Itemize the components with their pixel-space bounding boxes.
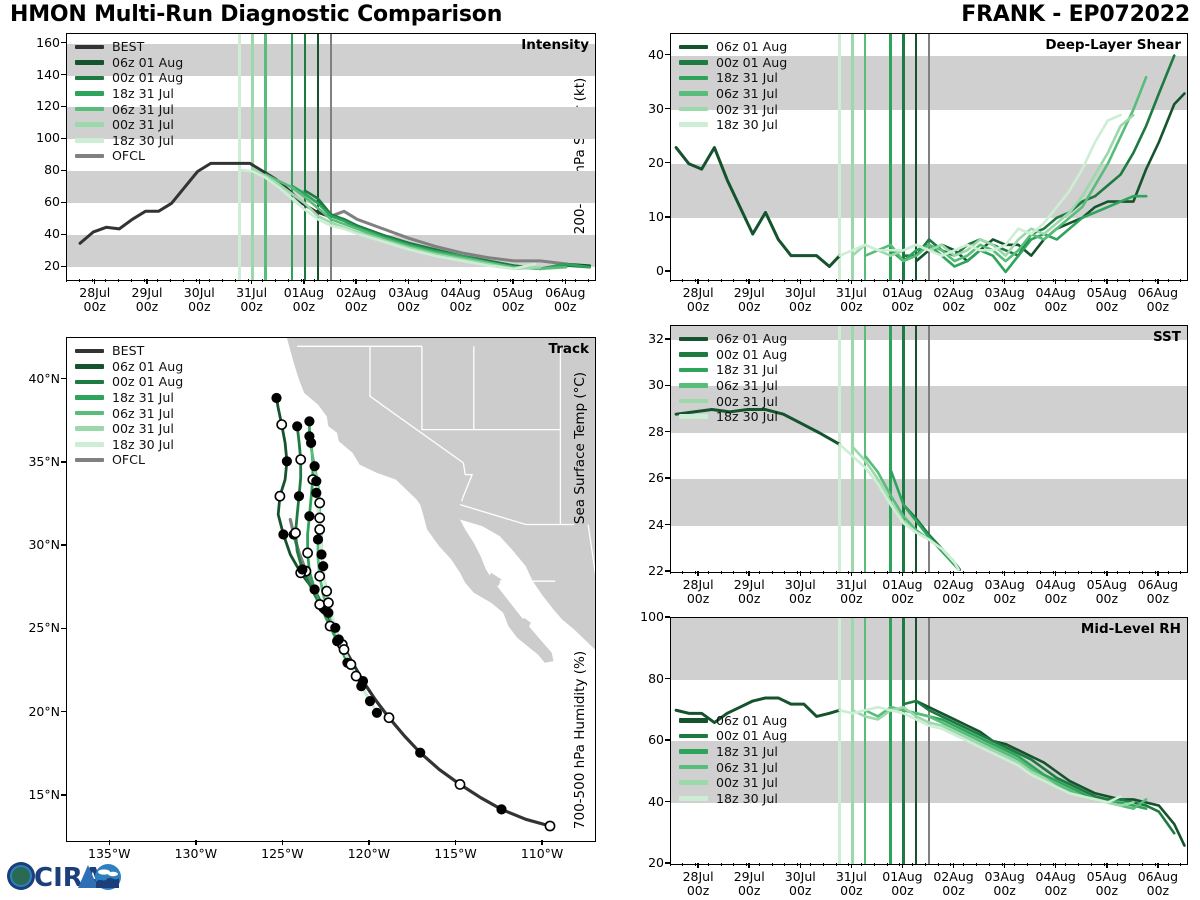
y-tick-mark bbox=[61, 74, 66, 75]
x-tick-label: 06Aug00z bbox=[1126, 286, 1190, 314]
y-tick-label: 28 bbox=[618, 424, 664, 439]
legend-item: 18z 30 Jul bbox=[75, 437, 183, 453]
track-marker-00z bbox=[497, 805, 506, 814]
legend-label: 00z 31 Jul bbox=[716, 775, 778, 790]
legend-label: OFCL bbox=[112, 148, 145, 163]
panel-title-rh: Mid-Level RH bbox=[1081, 621, 1181, 637]
track-marker-12z bbox=[291, 528, 300, 537]
y-tick-mark bbox=[61, 461, 66, 462]
track-marker-00z bbox=[313, 535, 322, 544]
y-tick-label: 30 bbox=[618, 377, 664, 392]
legend-item: 18z 31 Jul bbox=[679, 70, 787, 86]
panel-title-shear: Deep-Layer Shear bbox=[1045, 37, 1181, 53]
track-marker-12z bbox=[322, 587, 331, 596]
legend-swatch bbox=[679, 45, 708, 50]
y-tick-label: 40 bbox=[618, 47, 664, 62]
y-tick-label: 80 bbox=[14, 162, 60, 177]
y-tick-mark bbox=[665, 162, 670, 163]
legend-label: 18z 30 Jul bbox=[112, 133, 174, 148]
legend-swatch bbox=[75, 364, 104, 369]
legend-swatch bbox=[75, 138, 104, 143]
legend-swatch bbox=[679, 414, 708, 419]
y-tick-mark bbox=[61, 628, 66, 629]
legend-swatch bbox=[679, 749, 708, 754]
track-marker-12z bbox=[455, 780, 464, 789]
legend-item: 00z 01 Aug bbox=[679, 728, 787, 744]
cira-logo: CIRA bbox=[4, 855, 122, 897]
y-tick-mark bbox=[61, 711, 66, 712]
legend-swatch bbox=[679, 91, 708, 96]
y-tick-label: 26 bbox=[618, 470, 664, 485]
y-tick-mark bbox=[665, 524, 670, 525]
legend-label: 00z 01 Aug bbox=[112, 70, 183, 85]
data-series-line bbox=[891, 196, 1146, 272]
panel-title-intensity: Intensity bbox=[521, 37, 589, 53]
legend-label: 06z 31 Jul bbox=[716, 378, 778, 393]
legend-shear: 06z 01 Aug00z 01 Aug18z 31 Jul06z 31 Jul… bbox=[679, 39, 787, 133]
legend-item: 00z 31 Jul bbox=[679, 393, 787, 409]
data-series-line bbox=[253, 168, 541, 269]
legend-swatch bbox=[679, 796, 708, 801]
legend-item: 00z 01 Aug bbox=[679, 347, 787, 363]
legend-label: 06z 01 Aug bbox=[716, 331, 787, 346]
track-line bbox=[309, 436, 361, 686]
track-marker-00z bbox=[365, 697, 374, 706]
legend-track: BEST06z 01 Aug00z 01 Aug18z 31 Jul06z 31… bbox=[75, 343, 183, 468]
legend-swatch bbox=[75, 426, 104, 431]
legend-swatch bbox=[679, 337, 708, 342]
legend-item: 00z 31 Jul bbox=[679, 101, 787, 117]
track-marker-12z bbox=[315, 600, 324, 609]
x-tick-mark bbox=[109, 840, 110, 845]
legend-item: BEST bbox=[75, 39, 183, 55]
legend-item: 06z 31 Jul bbox=[679, 378, 787, 394]
y-tick-label: 22 bbox=[618, 563, 664, 578]
track-marker-12z bbox=[315, 525, 324, 534]
legend-swatch bbox=[679, 718, 708, 723]
panel-shear[interactable]: Deep-Layer Shear 06z 01 Aug00z 01 Aug18z… bbox=[670, 33, 1188, 281]
legend-label: 18z 30 Jul bbox=[716, 409, 778, 424]
legend-label: 06z 31 Jul bbox=[716, 760, 778, 775]
track-marker-00z bbox=[357, 682, 366, 691]
legend-label: 00z 01 Aug bbox=[716, 728, 787, 743]
data-series-line bbox=[852, 115, 1133, 256]
legend-item: 06z 01 Aug bbox=[679, 39, 787, 55]
track-marker-00z bbox=[312, 488, 321, 497]
legend-intensity: BEST06z 01 Aug00z 01 Aug18z 31 Jul06z 31… bbox=[75, 39, 183, 164]
y-tick-mark bbox=[61, 378, 66, 379]
y-tick-mark bbox=[61, 794, 66, 795]
track-marker-00z bbox=[416, 748, 425, 757]
x-tick-label: 115°W bbox=[420, 847, 492, 861]
panel-title-sst: SST bbox=[1153, 329, 1181, 345]
legend-label: 06z 01 Aug bbox=[716, 39, 787, 54]
data-series-line bbox=[903, 56, 1174, 256]
y-tick-mark bbox=[61, 138, 66, 139]
track-marker-00z bbox=[310, 462, 319, 471]
track-marker-00z bbox=[319, 562, 328, 571]
legend-item: BEST bbox=[75, 343, 183, 359]
y-axis-label: 700-500 hPa Humidity (%) bbox=[572, 651, 588, 829]
legend-swatch bbox=[75, 45, 104, 50]
x-tick-label: 06Aug00z bbox=[1126, 870, 1190, 898]
page-title-left: HMON Multi-Run Diagnostic Comparison bbox=[10, 2, 502, 27]
legend-item: 18z 30 Jul bbox=[75, 133, 183, 149]
y-tick-label: 25°N bbox=[8, 620, 60, 635]
legend-label: BEST bbox=[112, 39, 144, 54]
track-marker-12z bbox=[352, 672, 361, 681]
y-tick-label: 80 bbox=[618, 671, 664, 686]
data-series-line bbox=[865, 77, 1146, 261]
legend-swatch bbox=[75, 411, 104, 416]
legend-swatch bbox=[679, 780, 708, 785]
legend-label: OFCL bbox=[112, 452, 145, 467]
legend-swatch bbox=[679, 122, 708, 127]
y-tick-mark bbox=[61, 266, 66, 267]
legend-swatch bbox=[679, 399, 708, 404]
legend-label: 18z 30 Jul bbox=[716, 117, 778, 132]
y-tick-label: 100 bbox=[618, 609, 664, 624]
track-marker-12z bbox=[324, 598, 333, 607]
y-tick-label: 60 bbox=[14, 194, 60, 209]
data-series-line bbox=[676, 148, 839, 267]
track-marker-12z bbox=[303, 548, 312, 557]
y-tick-mark bbox=[61, 170, 66, 171]
legend-item: 18z 31 Jul bbox=[75, 390, 183, 406]
legend-label: 00z 01 Aug bbox=[716, 55, 787, 70]
track-line bbox=[316, 481, 377, 713]
track-marker-12z bbox=[339, 645, 348, 654]
legend-item: 00z 31 Jul bbox=[75, 421, 183, 437]
x-tick-label: 130°W bbox=[160, 847, 232, 861]
legend-swatch bbox=[679, 76, 708, 81]
legend-item: 00z 01 Aug bbox=[75, 374, 183, 390]
legend-label: 00z 31 Jul bbox=[716, 394, 778, 409]
data-series-line bbox=[80, 163, 328, 243]
legend-swatch bbox=[679, 352, 708, 357]
legend-item: 06z 01 Aug bbox=[75, 55, 183, 71]
y-tick-label: 40°N bbox=[8, 371, 60, 386]
x-tick-label: 110°W bbox=[506, 847, 578, 861]
x-tick-mark bbox=[541, 840, 542, 845]
legend-swatch bbox=[75, 458, 104, 463]
x-tick-mark bbox=[282, 840, 283, 845]
legend-item: 00z 31 Jul bbox=[75, 117, 183, 133]
x-tick-mark bbox=[195, 840, 196, 845]
y-tick-mark bbox=[61, 544, 66, 545]
track-line bbox=[294, 535, 550, 827]
legend-label: 06z 31 Jul bbox=[716, 86, 778, 101]
legend-swatch bbox=[75, 107, 104, 112]
legend-item: 06z 31 Jul bbox=[75, 101, 183, 117]
y-tick-label: 120 bbox=[14, 98, 60, 113]
track-marker-00z bbox=[317, 550, 326, 559]
legend-swatch bbox=[679, 383, 708, 388]
legend-swatch bbox=[75, 76, 104, 81]
track-marker-00z bbox=[282, 457, 291, 466]
legend-item: 06z 31 Jul bbox=[679, 86, 787, 102]
track-marker-12z bbox=[315, 572, 324, 581]
y-tick-label: 100 bbox=[14, 130, 60, 145]
legend-swatch bbox=[75, 395, 104, 400]
panel-rh[interactable]: Mid-Level RH 06z 01 Aug00z 01 Aug18z 31 … bbox=[670, 617, 1188, 865]
legend-item: 06z 31 Jul bbox=[679, 759, 787, 775]
track-marker-12z bbox=[315, 498, 324, 507]
y-tick-label: 30°N bbox=[8, 537, 60, 552]
y-tick-label: 35°N bbox=[8, 454, 60, 469]
track-marker-00z bbox=[312, 477, 321, 486]
legend-item: 06z 01 Aug bbox=[75, 359, 183, 375]
track-marker-12z bbox=[384, 713, 393, 722]
y-tick-mark bbox=[665, 338, 670, 339]
y-tick-mark bbox=[665, 678, 670, 679]
legend-item: 18z 31 Jul bbox=[679, 362, 787, 378]
track-marker-00z bbox=[305, 417, 314, 426]
y-tick-mark bbox=[665, 477, 670, 478]
track-marker-00z bbox=[293, 422, 302, 431]
legend-item: 00z 31 Jul bbox=[679, 775, 787, 791]
track-marker-12z bbox=[346, 660, 355, 669]
legend-label: 18z 31 Jul bbox=[112, 86, 174, 101]
y-tick-mark bbox=[665, 801, 670, 802]
x-tick-label: 06Aug00z bbox=[1126, 578, 1190, 606]
track-marker-12z bbox=[296, 455, 305, 464]
y-tick-label: 60 bbox=[618, 732, 664, 747]
y-tick-label: 20 bbox=[618, 155, 664, 170]
legend-label: 18z 31 Jul bbox=[716, 70, 778, 85]
track-marker-00z bbox=[305, 432, 314, 441]
track-marker-00z bbox=[272, 393, 281, 402]
y-tick-mark bbox=[61, 42, 66, 43]
legend-label: 06z 01 Aug bbox=[112, 359, 183, 374]
y-tick-label: 20 bbox=[618, 855, 664, 870]
legend-swatch bbox=[75, 442, 104, 447]
legend-label: 00z 01 Aug bbox=[716, 347, 787, 362]
legend-item: 06z 31 Jul bbox=[75, 405, 183, 421]
y-tick-label: 15°N bbox=[8, 787, 60, 802]
legend-label: 00z 31 Jul bbox=[112, 117, 174, 132]
legend-swatch bbox=[679, 107, 708, 112]
y-tick-label: 160 bbox=[14, 35, 60, 50]
legend-label: 18z 30 Jul bbox=[112, 437, 174, 452]
track-marker-00z bbox=[279, 530, 288, 539]
legend-item: 18z 30 Jul bbox=[679, 117, 787, 133]
legend-item: OFCL bbox=[75, 452, 183, 468]
track-marker-12z bbox=[277, 420, 286, 429]
legend-label: 18z 31 Jul bbox=[716, 362, 778, 377]
legend-swatch bbox=[75, 91, 104, 96]
legend-label: 06z 01 Aug bbox=[112, 55, 183, 70]
y-tick-label: 10 bbox=[618, 209, 664, 224]
y-tick-label: 40 bbox=[14, 226, 60, 241]
legend-item: 18z 30 Jul bbox=[679, 409, 787, 425]
y-tick-mark bbox=[665, 431, 670, 432]
y-tick-label: 24 bbox=[618, 517, 664, 532]
x-tick-label: 06Aug00z bbox=[533, 286, 597, 314]
legend-swatch bbox=[679, 765, 708, 770]
legend-label: 18z 30 Jul bbox=[716, 791, 778, 806]
legend-item: 18z 31 Jul bbox=[679, 744, 787, 760]
y-tick-label: 40 bbox=[618, 794, 664, 809]
legend-swatch bbox=[75, 122, 104, 127]
legend-item: 06z 01 Aug bbox=[679, 331, 787, 347]
legend-swatch bbox=[679, 60, 708, 65]
legend-label: 06z 31 Jul bbox=[112, 102, 174, 117]
track-marker-12z bbox=[275, 492, 284, 501]
track-marker-00z bbox=[334, 635, 343, 644]
legend-swatch bbox=[75, 380, 104, 385]
track-marker-00z bbox=[372, 708, 381, 717]
panel-title-track: Track bbox=[549, 341, 589, 357]
track-marker-12z bbox=[315, 513, 324, 522]
data-series-line bbox=[266, 175, 567, 269]
x-tick-label: 120°W bbox=[333, 847, 405, 861]
legend-label: 18z 31 Jul bbox=[112, 390, 174, 405]
legend-label: 00z 31 Jul bbox=[716, 102, 778, 117]
legend-label: 00z 01 Aug bbox=[112, 374, 183, 389]
legend-item: OFCL bbox=[75, 148, 183, 164]
page-title-right: FRANK - EP072022 bbox=[961, 2, 1190, 27]
y-tick-label: 20°N bbox=[8, 704, 60, 719]
legend-item: 18z 30 Jul bbox=[679, 790, 787, 806]
legend-label: 06z 31 Jul bbox=[112, 406, 174, 421]
track-marker-00z bbox=[294, 492, 303, 501]
x-tick-mark bbox=[368, 840, 369, 845]
legend-label: 18z 31 Jul bbox=[716, 744, 778, 759]
track-marker-00z bbox=[324, 608, 333, 617]
track-marker-12z bbox=[545, 821, 554, 830]
data-series-line bbox=[865, 707, 1146, 808]
y-tick-mark bbox=[665, 270, 670, 271]
legend-item: 00z 01 Aug bbox=[75, 70, 183, 86]
x-tick-label: 125°W bbox=[246, 847, 318, 861]
legend-swatch bbox=[679, 368, 708, 373]
data-series-line bbox=[840, 115, 1121, 256]
y-tick-label: 32 bbox=[618, 331, 664, 346]
legend-swatch bbox=[75, 349, 104, 354]
panel-intensity[interactable]: Intensity BEST06z 01 Aug00z 01 Aug18z 31… bbox=[66, 33, 596, 281]
y-tick-mark bbox=[61, 106, 66, 107]
y-tick-mark bbox=[61, 202, 66, 203]
legend-label: BEST bbox=[112, 343, 144, 358]
legend-item: 00z 01 Aug bbox=[679, 55, 787, 71]
y-tick-mark bbox=[665, 54, 670, 55]
y-tick-label: 30 bbox=[618, 101, 664, 116]
legend-item: 18z 31 Jul bbox=[75, 86, 183, 102]
y-tick-label: 20 bbox=[14, 258, 60, 273]
y-tick-mark bbox=[665, 216, 670, 217]
y-tick-mark bbox=[61, 234, 66, 235]
y-tick-mark bbox=[665, 108, 670, 109]
track-marker-00z bbox=[310, 585, 319, 594]
figure-root: HMON Multi-Run Diagnostic Comparison FRA… bbox=[0, 0, 1200, 900]
y-tick-label: 0 bbox=[618, 263, 664, 278]
legend-label: 00z 31 Jul bbox=[112, 421, 174, 436]
track-marker-00z bbox=[331, 623, 340, 632]
legend-swatch bbox=[75, 154, 104, 159]
y-tick-mark bbox=[665, 385, 670, 386]
legend-rh: 06z 01 Aug00z 01 Aug18z 31 Jul06z 31 Jul… bbox=[679, 712, 787, 806]
legend-item: 06z 01 Aug bbox=[679, 712, 787, 728]
legend-label: 06z 01 Aug bbox=[716, 713, 787, 728]
y-tick-label: 140 bbox=[14, 67, 60, 82]
track-marker-00z bbox=[298, 565, 307, 574]
legend-swatch bbox=[679, 734, 708, 739]
y-tick-mark bbox=[665, 616, 670, 617]
legend-sst: 06z 01 Aug00z 01 Aug18z 31 Jul06z 31 Jul… bbox=[679, 331, 787, 425]
track-marker-00z bbox=[305, 512, 314, 521]
y-axis-label: Sea Surface Temp (°C) bbox=[572, 372, 588, 524]
x-tick-mark bbox=[455, 840, 456, 845]
y-tick-mark bbox=[665, 739, 670, 740]
legend-swatch bbox=[75, 60, 104, 65]
panel-track[interactable]: Track BEST06z 01 Aug00z 01 Aug18z 31 Jul… bbox=[66, 337, 596, 842]
panel-sst[interactable]: SST 06z 01 Aug00z 01 Aug18z 31 Jul06z 31… bbox=[670, 325, 1188, 573]
